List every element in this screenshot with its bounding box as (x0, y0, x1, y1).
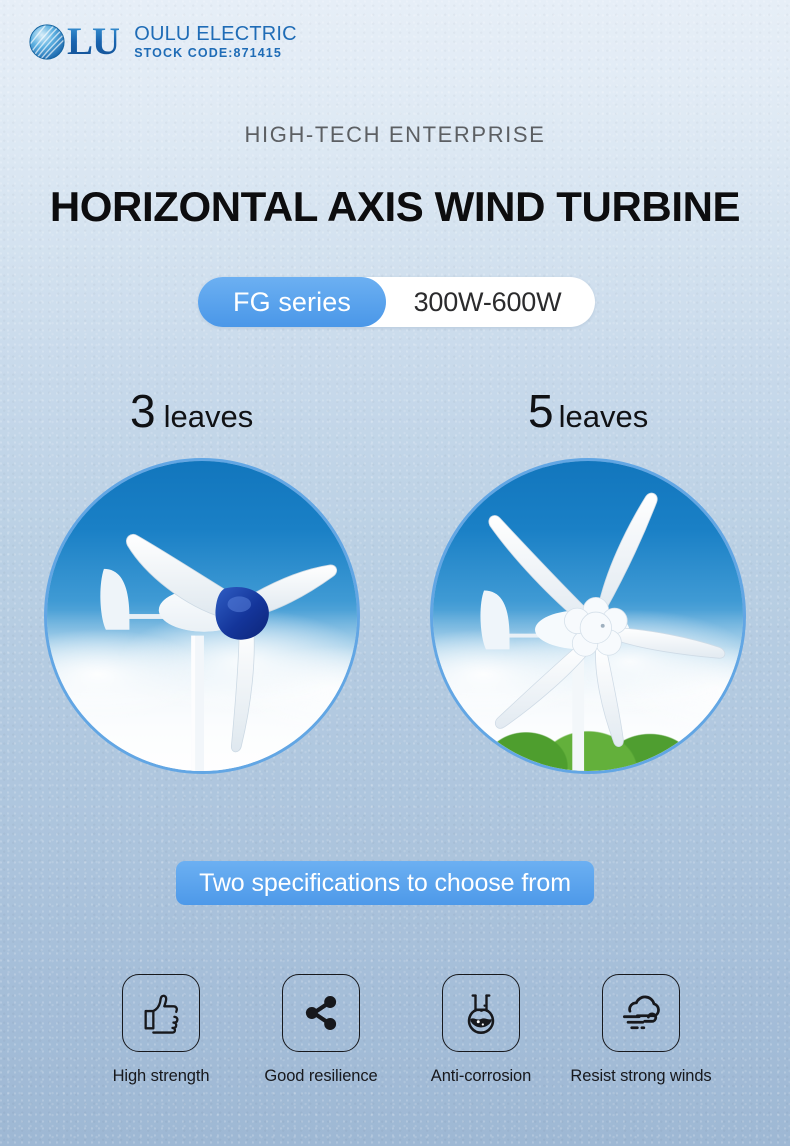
striped-globe-icon (28, 23, 66, 61)
share-nodes-icon (282, 974, 360, 1052)
stock-code: STOCK CODE:871415 (134, 45, 297, 61)
page-title: HORIZONTAL AXIS WIND TURBINE (0, 183, 790, 231)
feature-row: High strength Good resilience (86, 974, 716, 1086)
feature-item-high-strength: High strength (86, 974, 236, 1086)
product-label-5-leaves: 5 leaves (528, 388, 648, 435)
series-label: FG series (198, 277, 386, 327)
feature-label: Anti-corrosion (431, 1067, 531, 1086)
product-image-3-blade[interactable] (44, 458, 360, 774)
power-range-label: 300W-600W (386, 287, 595, 318)
wind-cloud-icon (602, 974, 680, 1052)
feature-item-good-resilience: Good resilience (246, 974, 396, 1086)
spec-banner: Two specifications to choose from (176, 861, 594, 905)
product-image-5-blade[interactable] (430, 458, 746, 774)
leaf-count-3: 3 (130, 388, 156, 434)
company-name: OULU ELECTRIC (134, 23, 297, 45)
feature-label: Good resilience (264, 1067, 377, 1086)
feature-label: High strength (113, 1067, 210, 1086)
five-blade-turbine-illustration (433, 461, 743, 771)
thumbs-up-icon (122, 974, 200, 1052)
brand-logo: LU OULU ELECTRIC STOCK CODE:871415 (28, 22, 297, 61)
leaf-unit-5: leaves (559, 399, 649, 435)
feature-item-anti-corrosion: Anti-corrosion (406, 974, 556, 1086)
leaf-unit-3: leaves (164, 399, 254, 435)
product-label-3-leaves: 3 leaves (130, 388, 253, 435)
feature-label: Resist strong winds (570, 1067, 711, 1086)
eyebrow-text: HIGH-TECH ENTERPRISE (0, 122, 790, 148)
feature-item-resist-strong-winds: Resist strong winds (566, 974, 716, 1086)
logo-wordmark: LU (67, 23, 119, 61)
flask-icon (442, 974, 520, 1052)
three-blade-turbine-illustration (47, 461, 357, 771)
leaf-count-5: 5 (528, 388, 554, 434)
series-badge: FG series 300W-600W (198, 277, 595, 327)
